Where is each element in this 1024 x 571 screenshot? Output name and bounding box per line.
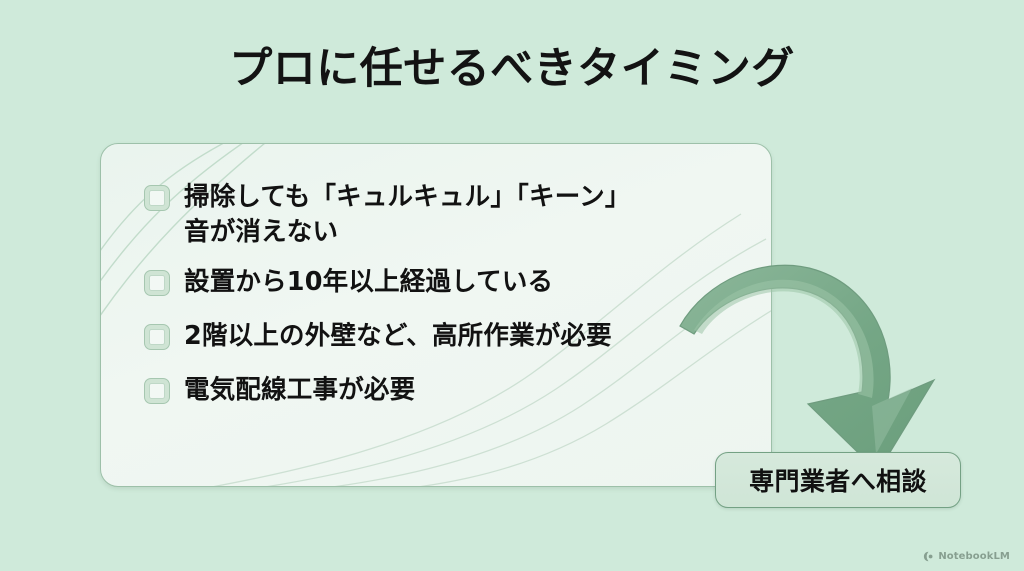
page-title: プロに任せるべきタイミング bbox=[0, 45, 1024, 93]
list-item-label: 2階以上の外壁など、高所作業が必要 bbox=[184, 319, 612, 354]
empty-checkbox-icon[interactable] bbox=[144, 324, 170, 350]
list-item[interactable]: 2階以上の外壁など、高所作業が必要 bbox=[144, 319, 744, 354]
list-item-label: 電気配線工事が必要 bbox=[184, 373, 415, 408]
checklist-card: 掃除しても「キュルキュル」「キーン」音が消えない 設置から10年以上経過している… bbox=[100, 143, 772, 487]
empty-checkbox-icon[interactable] bbox=[144, 185, 170, 211]
notebooklm-icon bbox=[923, 551, 934, 562]
list-item[interactable]: 電気配線工事が必要 bbox=[144, 373, 744, 408]
empty-checkbox-icon[interactable] bbox=[144, 378, 170, 404]
watermark: NotebookLM bbox=[923, 551, 1010, 562]
status-badge-label: 専門業者へ相談 bbox=[749, 462, 927, 498]
status-badge[interactable]: 専門業者へ相談 bbox=[715, 452, 961, 508]
watermark-label: NotebookLM bbox=[938, 551, 1010, 562]
list-item[interactable]: 掃除しても「キュルキュル」「キーン」音が消えない bbox=[144, 180, 744, 249]
checklist: 掃除しても「キュルキュル」「キーン」音が消えない 設置から10年以上経過している… bbox=[144, 180, 744, 426]
empty-checkbox-icon[interactable] bbox=[144, 270, 170, 296]
list-item[interactable]: 設置から10年以上経過している bbox=[144, 265, 744, 300]
list-item-label: 掃除しても「キュルキュル」「キーン」音が消えない bbox=[184, 180, 631, 249]
list-item-label: 設置から10年以上経過している bbox=[184, 265, 553, 300]
slide-canvas: プロに任せるべきタイミング 掃除しても「キュルキュル」「キーン」音が消えない bbox=[0, 0, 1024, 571]
